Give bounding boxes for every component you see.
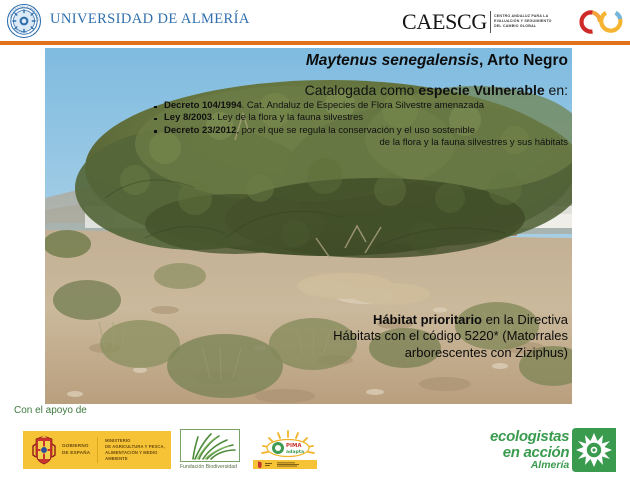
ecologistas-en-accion-logo: ecologistas en acción Almería (490, 427, 618, 473)
subtitle-suffix: en: (545, 82, 568, 98)
list-item: Decreto 23/2012, por el que se regula la… (150, 125, 568, 137)
support-label: Con el apoyo de (14, 405, 87, 416)
ual-seal-icon: UNIVERSITAS ALMERIENSIS ALMERIA (6, 3, 42, 39)
habitat-emphasis: Hábitat prioritario (373, 312, 482, 327)
svg-text:PIMA: PIMA (286, 443, 302, 449)
ecologistas-line-2: en acción (490, 445, 569, 460)
caescg-acronym: CAESCG (402, 11, 491, 33)
gobierno-line-1: GOBIERNO (62, 443, 90, 450)
species-common-name: Arto Negro (487, 52, 568, 69)
university-name: UNIVERSIDAD DE ALMERÍA (50, 11, 250, 28)
sun-icon: PIMA adapta (253, 429, 323, 459)
svg-text:adapta: adapta (286, 449, 304, 455)
sunburst-eye-icon (572, 428, 616, 472)
spain-coat-of-arms-icon (31, 435, 57, 465)
gobierno-label: GOBIERNO DE ESPAÑA (62, 443, 90, 456)
ministerio-line-3: ALIMENTACIÓN Y MEDIO AMBIENTE (105, 450, 171, 462)
legislation-reference: Ley 8/2003 (164, 112, 212, 123)
sponsor-logo-row: GOBIERNO DE ESPAÑA MINISTERIO DE AGRICUL… (0, 427, 630, 477)
ministerio-label: MINISTERIO DE AGRICULTURA Y PESCA, ALIME… (105, 438, 171, 463)
list-item-continuation: de la flora y la fauna silvestres y sus … (150, 137, 568, 149)
fundacion-biodiversidad-logo: Fundación Biodiversidad (180, 429, 246, 473)
legislation-reference: Decreto 104/1994 (164, 100, 242, 111)
header-accent-bar (0, 41, 630, 45)
list-item: Decreto 104/1994. Cat. Andaluz de Especi… (150, 100, 568, 112)
gobierno-de-espana-logo: GOBIERNO DE ESPAÑA MINISTERIO DE AGRICUL… (23, 431, 171, 469)
title-separator: , (479, 52, 487, 69)
caescg-logo: CAESCG CENTRO ANDALUZ PARA LA EVALUACIÓN… (402, 5, 624, 38)
grass-icon (180, 429, 240, 462)
presentation-slide: UNIVERSITAS ALMERIENSIS ALMERIA UNIVERSI… (0, 0, 630, 478)
legislation-description: . Ley de la flora y la fauna silvestres (212, 112, 363, 123)
legislation-list: Decreto 104/1994. Cat. Andaluz de Especi… (150, 100, 568, 149)
gobierno-line-2: DE ESPAÑA (62, 450, 90, 457)
logo-divider (97, 437, 98, 463)
slide-subtitle: Catalogada como especie Vulnerable en: (150, 82, 568, 99)
slide-header: UNIVERSITAS ALMERIENSIS ALMERIA UNIVERSI… (0, 0, 630, 41)
subtitle-prefix: Catalogada como (305, 82, 419, 98)
list-item: Ley 8/2003. Ley de la flora y la fauna s… (150, 112, 568, 124)
species-scientific-name: Maytenus senegalensis (306, 52, 479, 69)
caescg-subtitle: CENTRO ANDALUZ PARA LA EVALUACIÓN Y SEGU… (491, 14, 572, 30)
subtitle-emphasis: especie Vulnerable (418, 82, 544, 98)
ecologistas-line-3: Almería (490, 460, 569, 471)
ecologistas-wordmark: ecologistas en acción Almería (490, 429, 569, 470)
two-rings-icon (576, 6, 624, 38)
legislation-description: , por el que se regula la conservación y… (236, 125, 475, 136)
habitat-note: Hábitat prioritario en la Directiva Hábi… (330, 312, 568, 361)
pima-adapta-logo: PIMA adapta (253, 429, 323, 473)
pima-ministry-strip (253, 460, 317, 469)
fundacion-biodiversidad-caption: Fundación Biodiversidad (180, 464, 246, 470)
legislation-reference: Decreto 23/2012 (164, 125, 236, 136)
legislation-description: . Cat. Andaluz de Especies de Flora Silv… (242, 100, 484, 111)
ecologistas-line-1: ecologistas (490, 429, 569, 444)
caescg-subtitle-line-3: DEL CAMBIO GLOBAL (494, 24, 572, 29)
slide-title: Maytenus senegalensis, Arto Negro (150, 52, 568, 71)
